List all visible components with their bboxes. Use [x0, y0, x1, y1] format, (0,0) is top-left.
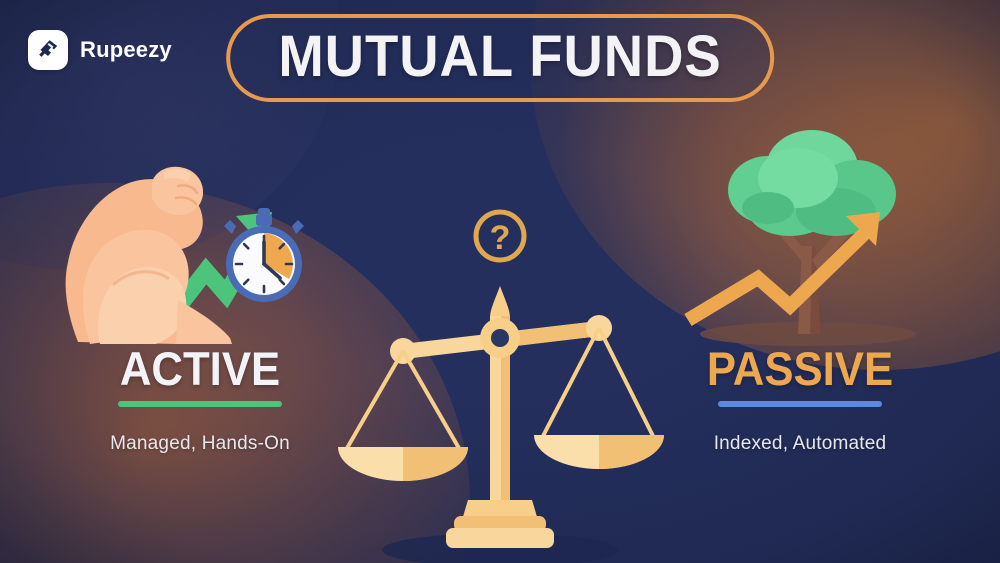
page-title-frame: MUTUAL FUNDS [226, 14, 774, 102]
underline-active [118, 401, 282, 407]
column-label-active: ACTIVE [70, 345, 330, 392]
infographic-canvas: Rupeezy MUTUAL FUNDS [0, 0, 1000, 563]
column-subtitle-passive: Indexed, Automated [660, 433, 940, 455]
column-subtitle-active: Managed, Hands-On [60, 433, 340, 455]
page-title: MUTUAL FUNDS [278, 28, 721, 86]
center-scale-group: ? [350, 198, 650, 563]
column-active: ACTIVE Managed, Hands-On [60, 120, 340, 455]
column-passive: PASSIVE Indexed, Automated [660, 120, 940, 455]
brand-name: Rupeezy [80, 37, 172, 63]
question-mark-glyph: ? [490, 219, 511, 257]
balance-scale-icon [338, 286, 664, 548]
scale-pan-right [534, 328, 664, 469]
brand-logo[interactable]: Rupeezy [28, 30, 172, 70]
passive-illustration [660, 120, 940, 345]
active-illustration [60, 120, 340, 345]
question-mark-icon: ? [476, 212, 524, 260]
rupeezy-hammer-mark-icon [28, 30, 68, 70]
scale-pan-left [338, 351, 468, 481]
underline-passive [718, 401, 882, 407]
stopwatch-icon [224, 208, 304, 302]
forearm-shape [176, 300, 232, 344]
column-label-passive: PASSIVE [670, 345, 930, 392]
